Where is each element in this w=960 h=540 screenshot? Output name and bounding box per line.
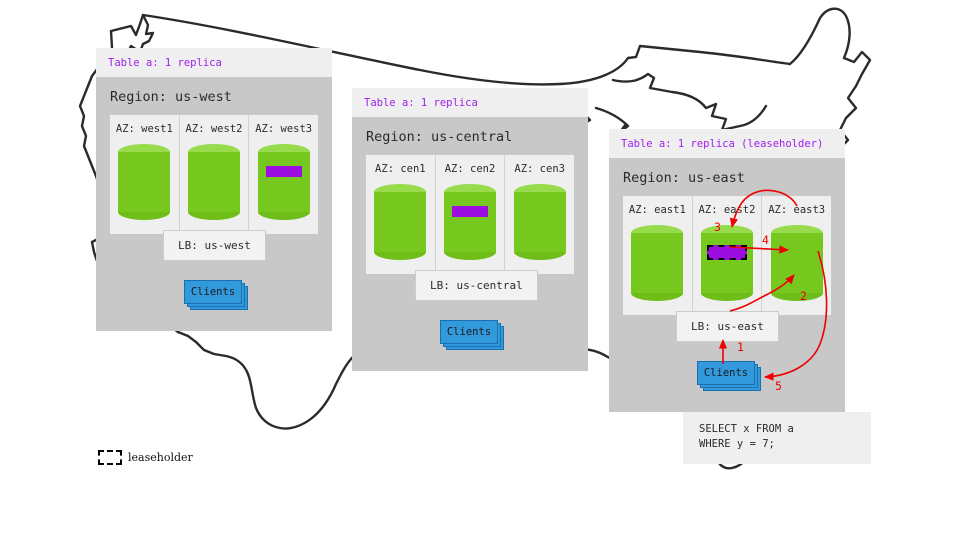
clients-stack-us-east[interactable]: Clients bbox=[697, 361, 755, 385]
database-cylinder-east1[interactable] bbox=[631, 225, 683, 301]
cylinder-body-icon bbox=[514, 192, 566, 252]
az-label-cen1: AZ: cen1 bbox=[375, 163, 426, 175]
database-cylinder-west1[interactable] bbox=[118, 144, 170, 220]
legend: leaseholder bbox=[98, 450, 193, 465]
leaseholder-swatch-icon bbox=[98, 450, 122, 465]
az-label-east3: AZ: east3 bbox=[768, 204, 825, 216]
load-balancer-us-central[interactable]: LB: us-central bbox=[415, 270, 538, 301]
az-label-cen2: AZ: cen2 bbox=[445, 163, 496, 175]
legend-label-leaseholder: leaseholder bbox=[128, 451, 193, 464]
cylinder-body-icon bbox=[374, 192, 426, 252]
az-label-west3: AZ: west3 bbox=[255, 123, 312, 135]
clients-label-us-east: Clients bbox=[697, 361, 755, 385]
load-balancer-us-east[interactable]: LB: us-east bbox=[676, 311, 779, 342]
region-panel-us-central: Table a: 1 replica Region: us-central AZ… bbox=[352, 88, 588, 371]
region-title-us-west: Region: us-west bbox=[96, 77, 332, 115]
az-label-west1: AZ: west1 bbox=[116, 123, 173, 135]
cylinder-body-icon bbox=[701, 233, 753, 293]
az-cell-west3[interactable]: AZ: west3 bbox=[249, 115, 318, 234]
sql-query-box: SELECT x FROM a WHERE y = 7; bbox=[683, 412, 871, 464]
az-cell-cen1[interactable]: AZ: cen1 bbox=[366, 155, 436, 274]
clients-stack-us-west[interactable]: Clients bbox=[184, 280, 242, 304]
database-cylinder-east2[interactable] bbox=[701, 225, 753, 301]
database-cylinder-cen2[interactable] bbox=[444, 184, 496, 260]
panel-header-us-west: Table a: 1 replica bbox=[96, 48, 332, 77]
diagram-canvas: Table a: 1 replica Region: us-west AZ: w… bbox=[0, 0, 960, 540]
database-cylinder-cen1[interactable] bbox=[374, 184, 426, 260]
az-cell-east1[interactable]: AZ: east1 bbox=[623, 196, 693, 315]
clients-label-us-west: Clients bbox=[184, 280, 242, 304]
az-row-us-central: AZ: cen1 AZ: cen2 AZ: cen3 bbox=[366, 155, 574, 274]
cylinder-body-icon bbox=[118, 152, 170, 212]
az-row-us-east: AZ: east1 AZ: east2 AZ: east3 bbox=[623, 196, 831, 315]
clients-label-us-central: Clients bbox=[440, 320, 498, 344]
az-label-east2: AZ: east2 bbox=[699, 204, 756, 216]
database-cylinder-west2[interactable] bbox=[188, 144, 240, 220]
database-cylinder-west3[interactable] bbox=[258, 144, 310, 220]
cylinder-body-icon bbox=[444, 192, 496, 252]
clients-stack-us-central[interactable]: Clients bbox=[440, 320, 498, 344]
az-cell-east3[interactable]: AZ: east3 bbox=[762, 196, 831, 315]
az-cell-east2[interactable]: AZ: east2 bbox=[693, 196, 763, 315]
cylinder-body-icon bbox=[631, 233, 683, 293]
az-cell-west1[interactable]: AZ: west1 bbox=[110, 115, 180, 234]
az-cell-west2[interactable]: AZ: west2 bbox=[180, 115, 250, 234]
cylinder-body-icon bbox=[771, 233, 823, 293]
az-label-cen3: AZ: cen3 bbox=[514, 163, 565, 175]
cylinder-body-icon bbox=[258, 152, 310, 212]
az-label-west2: AZ: west2 bbox=[186, 123, 243, 135]
leaseholder-replica-marker-east2 bbox=[707, 245, 747, 260]
region-panel-us-west: Table a: 1 replica Region: us-west AZ: w… bbox=[96, 48, 332, 331]
region-title-us-east: Region: us-east bbox=[609, 158, 845, 196]
az-cell-cen3[interactable]: AZ: cen3 bbox=[505, 155, 574, 274]
database-cylinder-east3[interactable] bbox=[771, 225, 823, 301]
replica-marker-cen2 bbox=[452, 206, 488, 217]
load-balancer-us-west[interactable]: LB: us-west bbox=[163, 230, 266, 261]
panel-header-us-east: Table a: 1 replica (leaseholder) bbox=[609, 129, 845, 158]
az-cell-cen2[interactable]: AZ: cen2 bbox=[436, 155, 506, 274]
az-label-east1: AZ: east1 bbox=[629, 204, 686, 216]
replica-marker-west3 bbox=[266, 166, 302, 177]
cylinder-body-icon bbox=[188, 152, 240, 212]
database-cylinder-cen3[interactable] bbox=[514, 184, 566, 260]
region-title-us-central: Region: us-central bbox=[352, 117, 588, 155]
az-row-us-west: AZ: west1 AZ: west2 AZ: west3 bbox=[110, 115, 318, 234]
region-panel-us-east: Table a: 1 replica (leaseholder) Region:… bbox=[609, 129, 845, 412]
panel-header-us-central: Table a: 1 replica bbox=[352, 88, 588, 117]
